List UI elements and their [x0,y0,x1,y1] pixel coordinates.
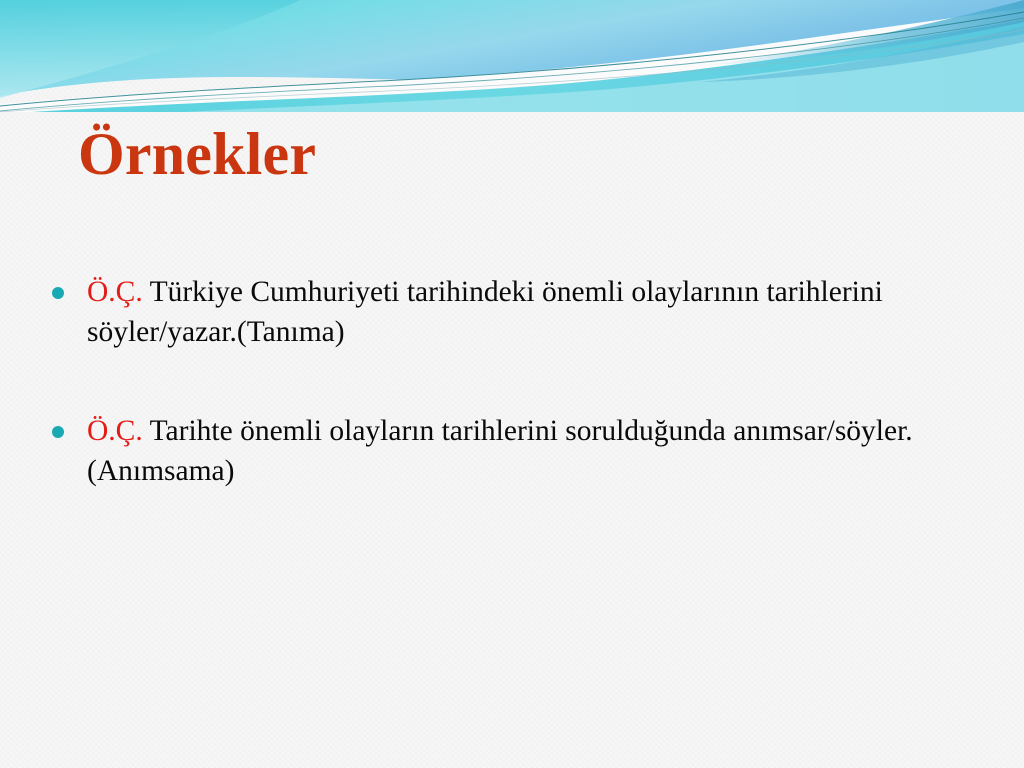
body-placeholder: Ö.Ç. Türkiye Cumhuriyeti tarihindeki öne… [52,272,952,492]
bullet-dot-icon [52,287,64,299]
objective-code-label: Ö.Ç. [87,276,143,308]
page-title: Örnekler [78,122,948,187]
bullet-text: Ö.Ç. Tarihte önemli olayların tarihlerin… [87,411,952,492]
bullet-dot-icon [52,426,64,438]
list-item: Ö.Ç. Tarihte önemli olayların tarihlerin… [52,411,952,492]
bullet-text: Ö.Ç. Türkiye Cumhuriyeti tarihindeki öne… [87,272,952,353]
bullet-body-text: Türkiye Cumhuriyeti tarihindeki önemli o… [87,276,883,348]
presentation-slide: Örnekler Ö.Ç. Türkiye Cumhuriyeti tarihi… [0,0,1024,768]
list-item: Ö.Ç. Türkiye Cumhuriyeti tarihindeki öne… [52,272,952,353]
bullet-body-text: Tarihte önemli olayların tarihlerini sor… [87,415,913,487]
objective-code-label: Ö.Ç. [87,415,143,447]
title-placeholder: Örnekler [78,122,948,187]
header-wave-decoration [0,0,1024,112]
